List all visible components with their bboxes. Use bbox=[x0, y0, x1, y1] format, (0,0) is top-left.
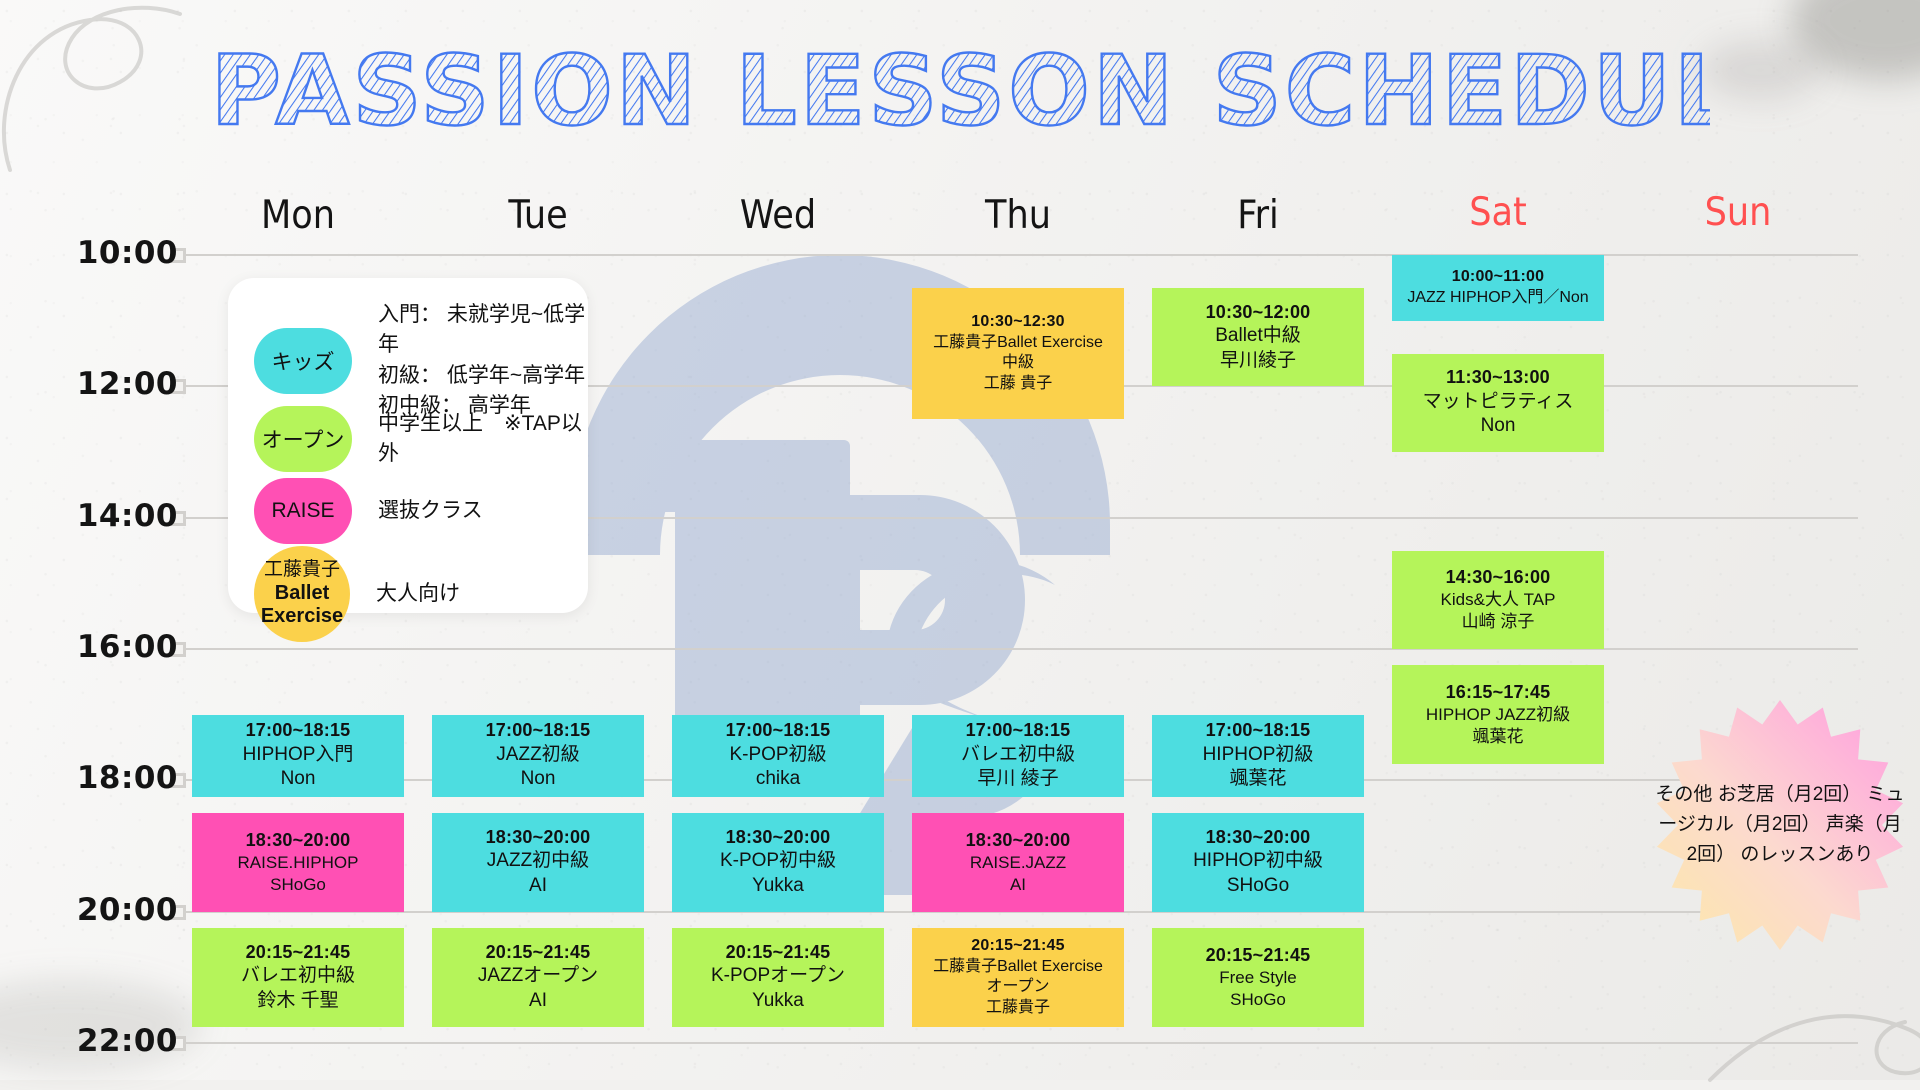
class-time: 20:15~21:45 bbox=[971, 936, 1064, 957]
legend-pill-open: オープン bbox=[254, 406, 352, 472]
class-name: RAISE.JAZZ bbox=[970, 852, 1066, 874]
class-time: 20:15~21:45 bbox=[1206, 944, 1311, 967]
class-block[interactable]: 18:30~20:00RAISE.JAZZAI bbox=[912, 813, 1124, 912]
legend-description: 選抜クラス bbox=[378, 496, 483, 526]
class-time: 17:00~18:15 bbox=[486, 719, 591, 742]
class-instructor: SHoGo bbox=[1230, 989, 1286, 1011]
class-block[interactable]: 17:00~18:15バレエ初中級早川 綾子 bbox=[912, 715, 1124, 797]
day-header-sun: Sun bbox=[1638, 190, 1838, 235]
class-block[interactable]: 17:00~18:15HIPHOP入門Non bbox=[192, 715, 404, 797]
class-block[interactable]: 20:15~21:45工藤貴子Ballet Exerciseオープン工藤貴子 bbox=[912, 928, 1124, 1027]
class-block[interactable]: 18:30~20:00K-POP初中級Yukka bbox=[672, 813, 884, 912]
class-instructor: SHoGo bbox=[270, 874, 326, 896]
sunday-note-text: その他 お芝居（月2回） ミュージカル（月2回） 声楽（月2回） のレッスンあり bbox=[1655, 700, 1905, 950]
class-time: 14:30~16:00 bbox=[1446, 566, 1551, 589]
time-axis-label: 16:00 bbox=[0, 629, 178, 665]
class-name: K-POP初級 bbox=[729, 743, 826, 768]
class-block[interactable]: 16:15~17:45HIPHOP JAZZ初級颯葉花 bbox=[1392, 665, 1604, 764]
class-name: RAISE.HIPHOP bbox=[238, 852, 359, 874]
legend-pill-kids: キッズ bbox=[254, 328, 352, 394]
day-header-sat: Sat bbox=[1398, 190, 1598, 235]
legend-card: キッズ入門： 未就学児~低学年 初級： 低学年~高学年 初中級： 高学年オープン… bbox=[228, 278, 588, 613]
class-name: バレエ初中級 bbox=[961, 743, 1075, 768]
class-instructor: Yukka bbox=[752, 874, 804, 899]
grid-line bbox=[178, 1042, 1858, 1044]
class-instructor: Non bbox=[281, 767, 316, 792]
class-instructor: 工藤 貴子 bbox=[984, 374, 1052, 395]
class-block[interactable]: 20:15~21:45JAZZオープンAI bbox=[432, 928, 644, 1027]
legend-description: 中学生以上 ※TAP以外 bbox=[378, 409, 588, 470]
class-time: 18:30~20:00 bbox=[486, 826, 591, 849]
legend-row: 工藤貴子BalletExercise大人向け bbox=[254, 546, 460, 642]
class-time: 17:00~18:15 bbox=[966, 719, 1071, 742]
class-time: 18:30~20:00 bbox=[246, 829, 351, 852]
time-axis-label: 22:00 bbox=[0, 1023, 178, 1059]
day-header-tue: Tue bbox=[438, 193, 638, 238]
class-instructor: 鈴木 千聖 bbox=[257, 989, 338, 1014]
class-name: K-POP初中級 bbox=[720, 849, 836, 874]
class-instructor: 工藤貴子 bbox=[986, 998, 1050, 1019]
class-name: Free Style bbox=[1219, 967, 1296, 989]
class-block[interactable]: 20:15~21:45バレエ初中級鈴木 千聖 bbox=[192, 928, 404, 1027]
legend-row: キッズ入門： 未就学児~低学年 初級： 低学年~高学年 初中級： 高学年 bbox=[254, 300, 588, 422]
class-name: K-POPオープン bbox=[711, 964, 845, 989]
time-axis-label: 12:00 bbox=[0, 366, 178, 402]
class-time: 17:00~18:15 bbox=[726, 719, 831, 742]
class-time: 10:00~11:00 bbox=[1452, 267, 1545, 288]
class-time: 18:30~20:00 bbox=[966, 829, 1071, 852]
grid-line bbox=[178, 254, 1858, 256]
class-time: 18:30~20:00 bbox=[1206, 826, 1311, 849]
class-block[interactable]: 18:30~20:00RAISE.HIPHOPSHoGo bbox=[192, 813, 404, 912]
legend-description: 入門： 未就学児~低学年 初級： 低学年~高学年 初中級： 高学年 bbox=[378, 300, 588, 422]
class-time: 20:15~21:45 bbox=[246, 941, 351, 964]
class-instructor: Yukka bbox=[752, 989, 804, 1014]
class-time: 10:30~12:30 bbox=[971, 312, 1064, 333]
time-axis-label: 14:00 bbox=[0, 498, 178, 534]
time-axis-label: 10:00 bbox=[0, 235, 178, 271]
class-time: 17:00~18:15 bbox=[1206, 719, 1311, 742]
class-block[interactable]: 10:30~12:30工藤貴子Ballet Exercise中級工藤 貴子 bbox=[912, 288, 1124, 419]
day-header-fri: Fri bbox=[1158, 193, 1358, 238]
legend-pill-line: 工藤貴子 bbox=[264, 559, 340, 581]
class-name: 工藤貴子Ballet Exercise bbox=[933, 333, 1103, 354]
class-time: 20:15~21:45 bbox=[726, 941, 831, 964]
class-name: HIPHOP JAZZ初級 bbox=[1426, 704, 1570, 726]
class-block[interactable]: 18:30~20:00HIPHOP初中級SHoGo bbox=[1152, 813, 1364, 912]
class-block[interactable]: 10:30~12:00Ballet中級早川綾子 bbox=[1152, 288, 1364, 387]
class-name: HIPHOP初中級 bbox=[1193, 849, 1323, 874]
class-block[interactable]: 17:00~18:15JAZZ初級Non bbox=[432, 715, 644, 797]
class-name: JAZZオープン bbox=[478, 964, 598, 989]
class-instructor: AI bbox=[1010, 874, 1026, 896]
legend-pill-ballet: 工藤貴子BalletExercise bbox=[254, 546, 350, 642]
class-instructor: 早川綾子 bbox=[1220, 349, 1296, 374]
class-name: JAZZ初級 bbox=[496, 743, 579, 768]
class-name: HIPHOP入門 bbox=[243, 743, 354, 768]
class-block[interactable]: 11:30~13:00マットピラティスNon bbox=[1392, 354, 1604, 453]
class-instructor: chika bbox=[756, 767, 800, 792]
class-instructor: Non bbox=[521, 767, 556, 792]
class-instructor: 颯葉花 bbox=[1473, 726, 1524, 748]
class-time: 18:30~20:00 bbox=[726, 826, 831, 849]
legend-description: 大人向け bbox=[376, 579, 460, 609]
legend-row: RAISE選抜クラス bbox=[254, 478, 483, 544]
class-block[interactable]: 20:15~21:45Free StyleSHoGo bbox=[1152, 928, 1364, 1027]
class-instructor: 山崎 涼子 bbox=[1462, 611, 1535, 633]
class-time: 10:30~12:00 bbox=[1206, 301, 1311, 324]
class-name: JAZZ HIPHOP入門／Non bbox=[1407, 288, 1588, 309]
legend-pill-line: Ballet bbox=[275, 582, 329, 606]
class-time: 20:15~21:45 bbox=[486, 941, 591, 964]
time-axis-label: 20:00 bbox=[0, 892, 178, 928]
grid-line bbox=[178, 648, 1858, 650]
class-name: バレエ初中級 bbox=[241, 964, 355, 989]
day-header-mon: Mon bbox=[198, 193, 398, 238]
class-instructor: AI bbox=[529, 989, 547, 1014]
class-instructor: SHoGo bbox=[1227, 874, 1289, 899]
class-level: 中級 bbox=[1002, 353, 1034, 374]
class-time: 11:30~13:00 bbox=[1446, 366, 1550, 389]
class-name: Kids&大人 TAP bbox=[1441, 589, 1556, 611]
class-name: HIPHOP初級 bbox=[1203, 743, 1314, 768]
class-time: 17:00~18:15 bbox=[246, 719, 351, 742]
class-block[interactable]: 20:15~21:45K-POPオープンYukka bbox=[672, 928, 884, 1027]
class-block[interactable]: 18:30~20:00JAZZ初中級AI bbox=[432, 813, 644, 912]
class-block[interactable]: 17:00~18:15K-POP初級chika bbox=[672, 715, 884, 797]
class-name: マットピラティス bbox=[1423, 390, 1574, 415]
legend-pill-raise: RAISE bbox=[254, 478, 352, 544]
class-level: オープン bbox=[986, 977, 1049, 998]
class-instructor: Non bbox=[1481, 414, 1516, 439]
class-name: Ballet中級 bbox=[1215, 324, 1301, 349]
class-instructor: AI bbox=[529, 874, 547, 899]
class-time: 16:15~17:45 bbox=[1446, 681, 1551, 704]
class-name: 工藤貴子Ballet Exercise bbox=[933, 957, 1103, 978]
class-block[interactable]: 17:00~18:15HIPHOP初級颯葉花 bbox=[1152, 715, 1364, 797]
day-header-thu: Thu bbox=[918, 193, 1118, 238]
legend-pill-line: Exercise bbox=[261, 605, 343, 629]
class-instructor: 颯葉花 bbox=[1229, 767, 1286, 792]
class-instructor: 早川 綾子 bbox=[977, 767, 1058, 792]
day-header-wed: Wed bbox=[678, 193, 878, 238]
class-block[interactable]: 10:00~11:00JAZZ HIPHOP入門／Non bbox=[1392, 255, 1604, 321]
time-axis-label: 18:00 bbox=[0, 760, 178, 796]
class-name: JAZZ初中級 bbox=[487, 849, 589, 874]
class-block[interactable]: 14:30~16:00Kids&大人 TAP山崎 涼子 bbox=[1392, 551, 1604, 650]
legend-row: オープン中学生以上 ※TAP以外 bbox=[254, 406, 588, 472]
